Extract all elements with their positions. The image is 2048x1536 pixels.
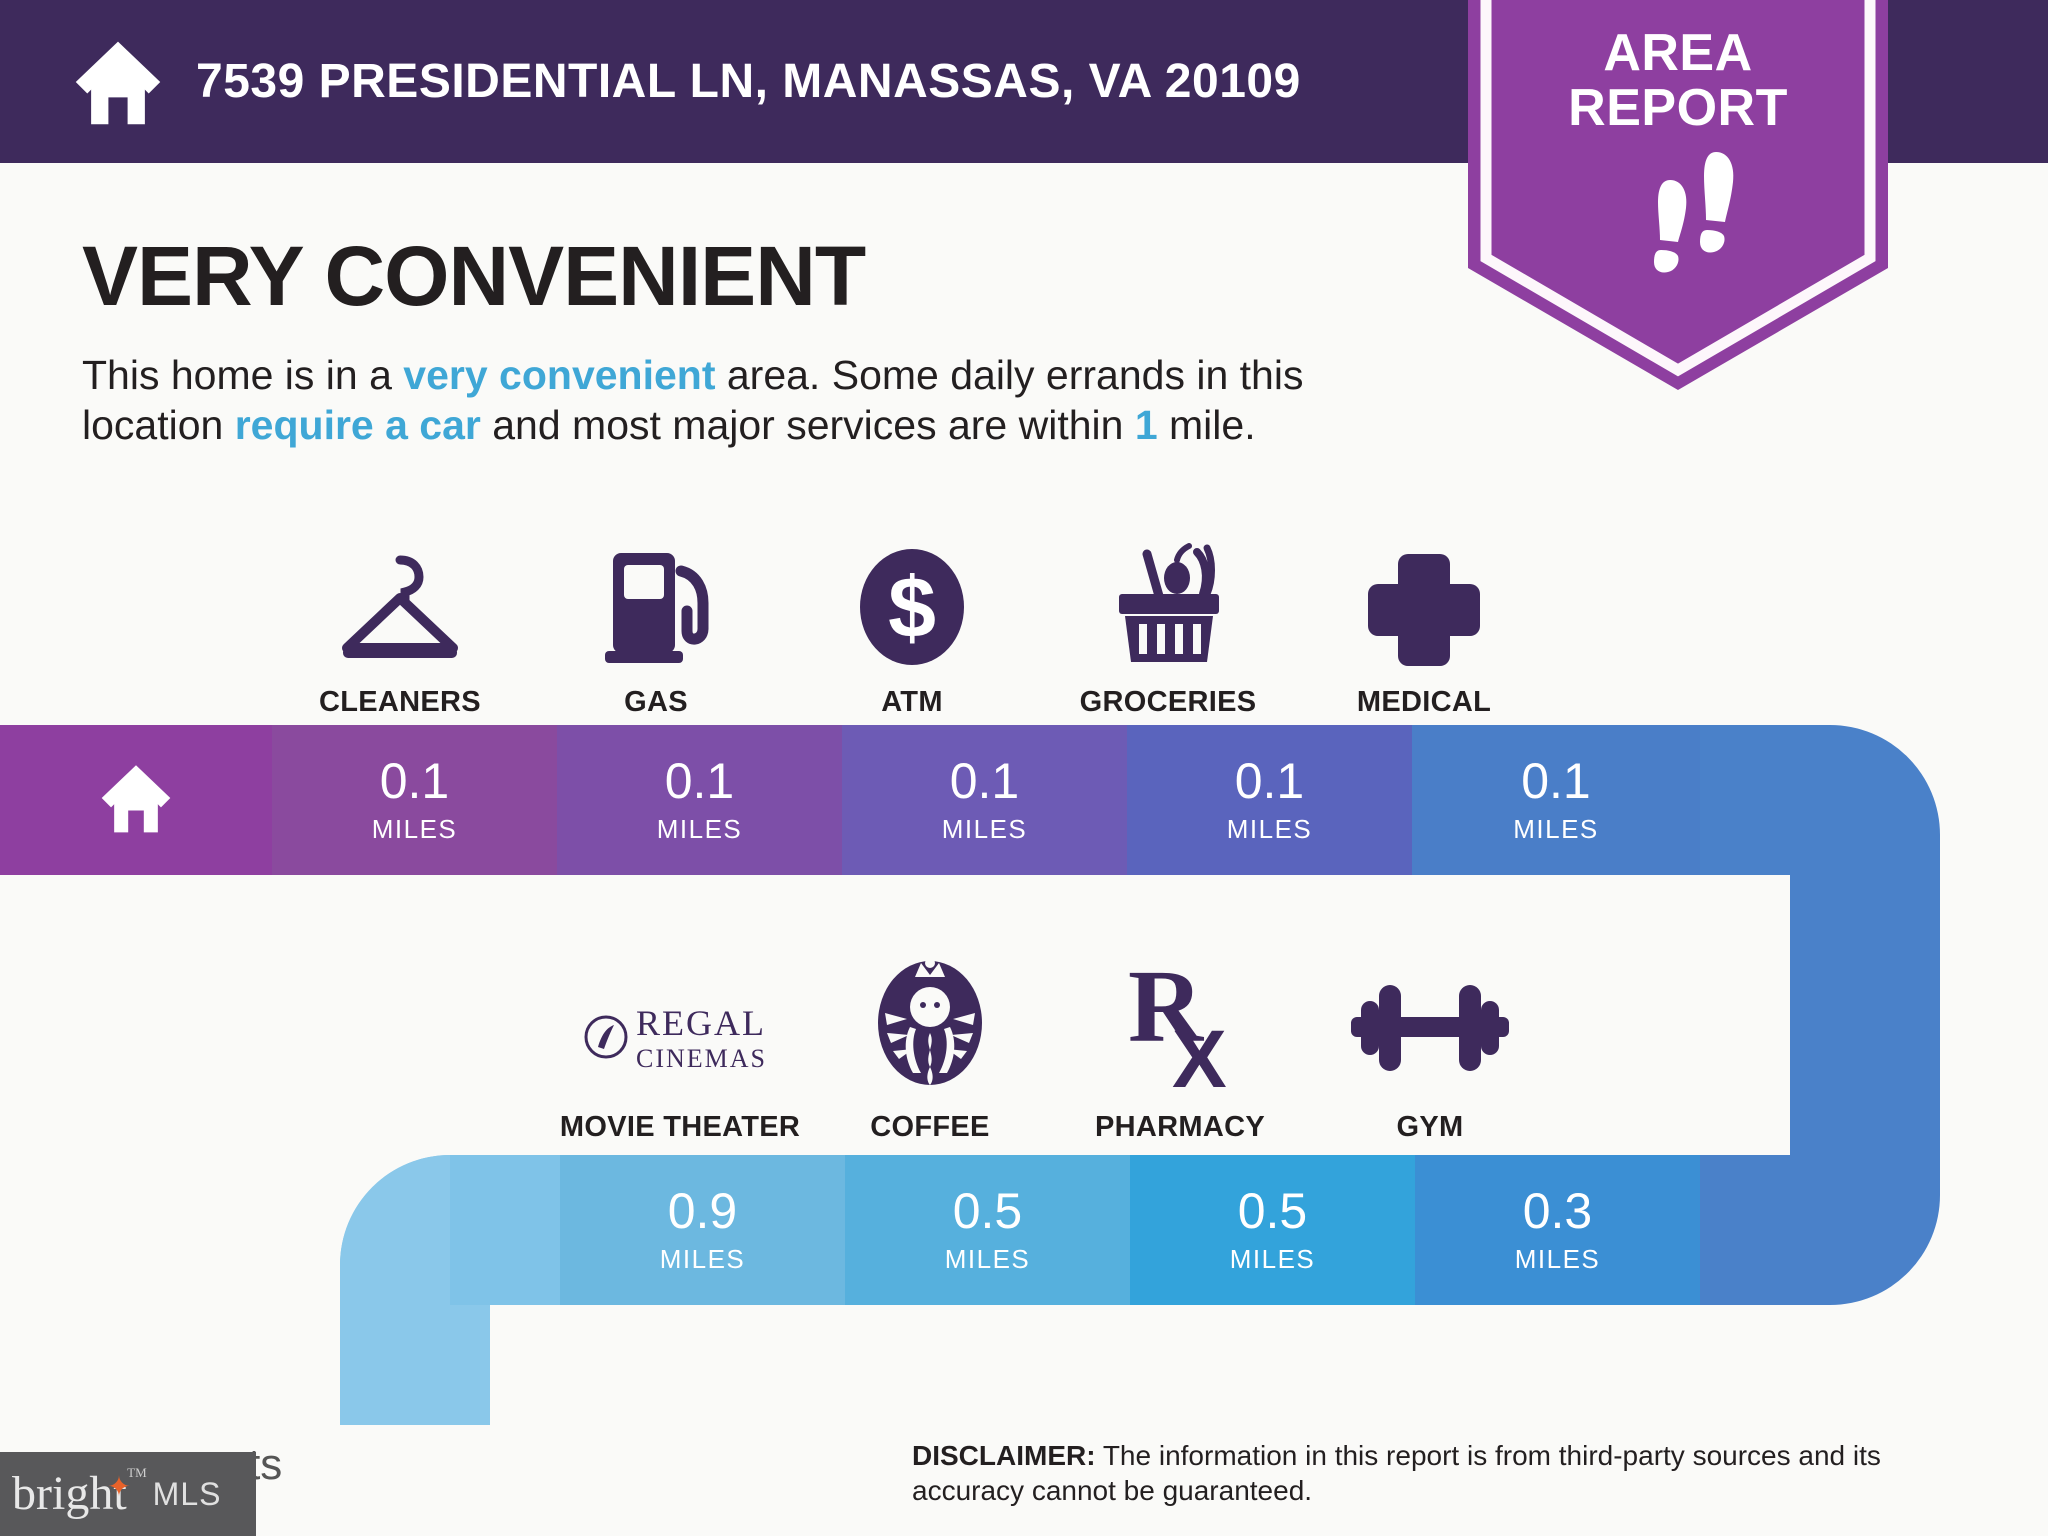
medical-cross-icon bbox=[1364, 530, 1484, 670]
ribbon-distance-gym: 0.3 MILES bbox=[1415, 1155, 1700, 1305]
distance-value: 0.1 bbox=[950, 756, 1020, 806]
badge-label: AREA REPORT bbox=[1468, 26, 1888, 136]
body-highlight-2: require a car bbox=[235, 402, 481, 448]
distance-value: 0.9 bbox=[668, 1186, 738, 1236]
area-report-badge: AREA REPORT bbox=[1468, 0, 1888, 390]
badge-line-1: AREA bbox=[1603, 24, 1752, 82]
trademark-mark: TM bbox=[127, 1466, 147, 1479]
ribbon-distance-coffee: 0.5 MILES bbox=[845, 1155, 1130, 1305]
ribbon-tail-left bbox=[450, 1155, 560, 1305]
distance-value: 0.3 bbox=[1523, 1186, 1593, 1236]
amenity-cleaners: CLEANERS bbox=[272, 530, 528, 719]
distance-ribbon: 0.1 MILES 0.1 MILES 0.1 MILES 0.1 MILES … bbox=[0, 725, 2048, 1425]
amenity-label: GAS bbox=[624, 686, 688, 719]
property-address: 7539 PRESIDENTIAL LN, MANASSAS, VA 20109 bbox=[196, 54, 1301, 109]
amenity-gas: GAS bbox=[528, 530, 784, 719]
body-part-3: and most major services are within bbox=[481, 402, 1135, 448]
body-part-1: This home is in a bbox=[82, 352, 403, 398]
amenity-label: ATM bbox=[881, 686, 943, 719]
distance-unit: MILES bbox=[372, 814, 458, 845]
body-part-4: mile. bbox=[1158, 402, 1256, 448]
distance-value: 0.5 bbox=[1238, 1186, 1308, 1236]
bright-logo-word: bright ✦ TM bbox=[12, 1470, 127, 1518]
distance-unit: MILES bbox=[942, 814, 1028, 845]
hanger-icon bbox=[335, 530, 465, 670]
summary-text: This home is in a very convenient area. … bbox=[82, 350, 1452, 450]
body-highlight-1: very convenient bbox=[403, 352, 715, 398]
basket-icon bbox=[1101, 530, 1236, 670]
gas-pump-icon bbox=[591, 530, 721, 670]
ribbon-distance-groceries: 0.1 MILES bbox=[1127, 725, 1412, 875]
distance-unit: MILES bbox=[1513, 814, 1599, 845]
ribbon-distance-movie-theater: 0.9 MILES bbox=[560, 1155, 845, 1305]
amenity-label: GROCERIES bbox=[1080, 686, 1257, 719]
amenity-groceries: GROCERIES bbox=[1040, 530, 1296, 719]
distance-unit: MILES bbox=[660, 1244, 746, 1275]
disclaimer-label: DISCLAIMER: bbox=[912, 1440, 1096, 1471]
bright-logo-mls: MLS bbox=[153, 1476, 222, 1513]
amenity-medical: MEDICAL bbox=[1296, 530, 1552, 719]
amenity-atm: $ ATM bbox=[784, 530, 1040, 719]
ribbon-home-marker bbox=[0, 725, 272, 875]
ribbon-distance-cleaners: 0.1 MILES bbox=[272, 725, 557, 875]
dollar-circle-icon: $ bbox=[852, 530, 972, 670]
page-title: VERY CONVENIENT bbox=[82, 228, 865, 325]
distance-value: 0.5 bbox=[953, 1186, 1023, 1236]
distance-unit: MILES bbox=[1227, 814, 1313, 845]
disclaimer: DISCLAIMER: The information in this repo… bbox=[912, 1438, 1982, 1508]
distance-value: 0.1 bbox=[665, 756, 735, 806]
body-highlight-3: 1 bbox=[1135, 402, 1158, 448]
bright-mls-logo: bright ✦ TM MLS bbox=[0, 1452, 256, 1536]
ribbon-distance-pharmacy: 0.5 MILES bbox=[1130, 1155, 1415, 1305]
amenity-label: MEDICAL bbox=[1357, 686, 1491, 719]
distance-unit: MILES bbox=[945, 1244, 1031, 1275]
amenity-label: CLEANERS bbox=[319, 686, 481, 719]
distance-value: 0.1 bbox=[1235, 756, 1305, 806]
ribbon-distance-medical: 0.1 MILES bbox=[1412, 725, 1700, 875]
svg-text:$: $ bbox=[888, 560, 936, 656]
ribbon-distance-gas: 0.1 MILES bbox=[557, 725, 842, 875]
distance-unit: MILES bbox=[1515, 1244, 1601, 1275]
ribbon-distance-atm: 0.1 MILES bbox=[842, 725, 1127, 875]
badge-line-2: REPORT bbox=[1468, 81, 1888, 136]
distance-value: 0.1 bbox=[380, 756, 450, 806]
home-icon bbox=[70, 34, 166, 130]
distance-value: 0.1 bbox=[1521, 756, 1591, 806]
home-icon bbox=[97, 759, 175, 842]
distance-unit: MILES bbox=[1230, 1244, 1316, 1275]
distance-unit: MILES bbox=[657, 814, 743, 845]
amenity-icon-row-primary: CLEANERS GAS $ ATM bbox=[272, 530, 1552, 719]
area-report-page: 7539 PRESIDENTIAL LN, MANASSAS, VA 20109… bbox=[0, 0, 2048, 1536]
